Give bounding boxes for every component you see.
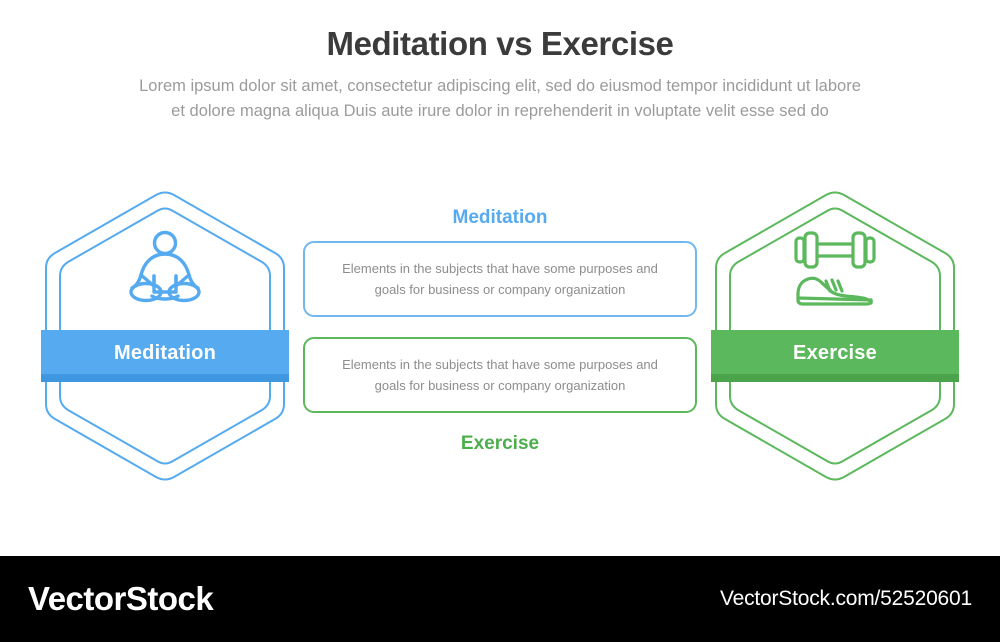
meditation-description-text: Elements in the subjects that have some …	[305, 258, 695, 300]
subtitle-line-2: et dolore magna aliqua Duis aute irure d…	[50, 99, 950, 124]
center-heading-meditation: Meditation	[303, 205, 697, 231]
page-title: Meditation vs Exercise	[0, 22, 1000, 66]
meditation-lotus-icon	[40, 230, 290, 311]
page-subtitle: Lorem ipsum dolor sit amet, consectetur …	[50, 74, 950, 124]
exercise-panel[interactable]: Exercise	[710, 186, 960, 486]
banner-shadow-strip	[711, 374, 959, 382]
meditation-banner-label: Meditation	[114, 342, 216, 365]
vectorstock-url: VectorStock.com/52520601	[720, 587, 972, 611]
header: Meditation vs Exercise Lorem ipsum dolor…	[0, 22, 1000, 124]
exercise-description-text: Elements in the subjects that have some …	[305, 354, 695, 396]
exercise-description-box[interactable]: Elements in the subjects that have some …	[303, 337, 697, 413]
subtitle-line-1: Lorem ipsum dolor sit amet, consectetur …	[50, 74, 950, 99]
exercise-banner-label: Exercise	[793, 342, 877, 365]
banner-shadow-strip	[41, 374, 289, 382]
box-gap	[303, 317, 697, 327]
exercise-banner: Exercise	[711, 330, 959, 382]
center-heading-exercise: Exercise	[303, 431, 697, 457]
footer-bar: VectorStock VectorStock.com/52520601	[0, 556, 1000, 642]
center-column: Meditation Elements in the subjects that…	[303, 205, 697, 457]
meditation-description-box[interactable]: Elements in the subjects that have some …	[303, 241, 697, 317]
vectorstock-logo: VectorStock	[28, 580, 213, 618]
meditation-banner: Meditation	[41, 330, 289, 382]
infographic-canvas: Meditation vs Exercise Lorem ipsum dolor…	[0, 0, 1000, 556]
dumbbell-sneaker-icon	[710, 230, 960, 313]
meditation-panel[interactable]: Meditation	[40, 186, 290, 486]
